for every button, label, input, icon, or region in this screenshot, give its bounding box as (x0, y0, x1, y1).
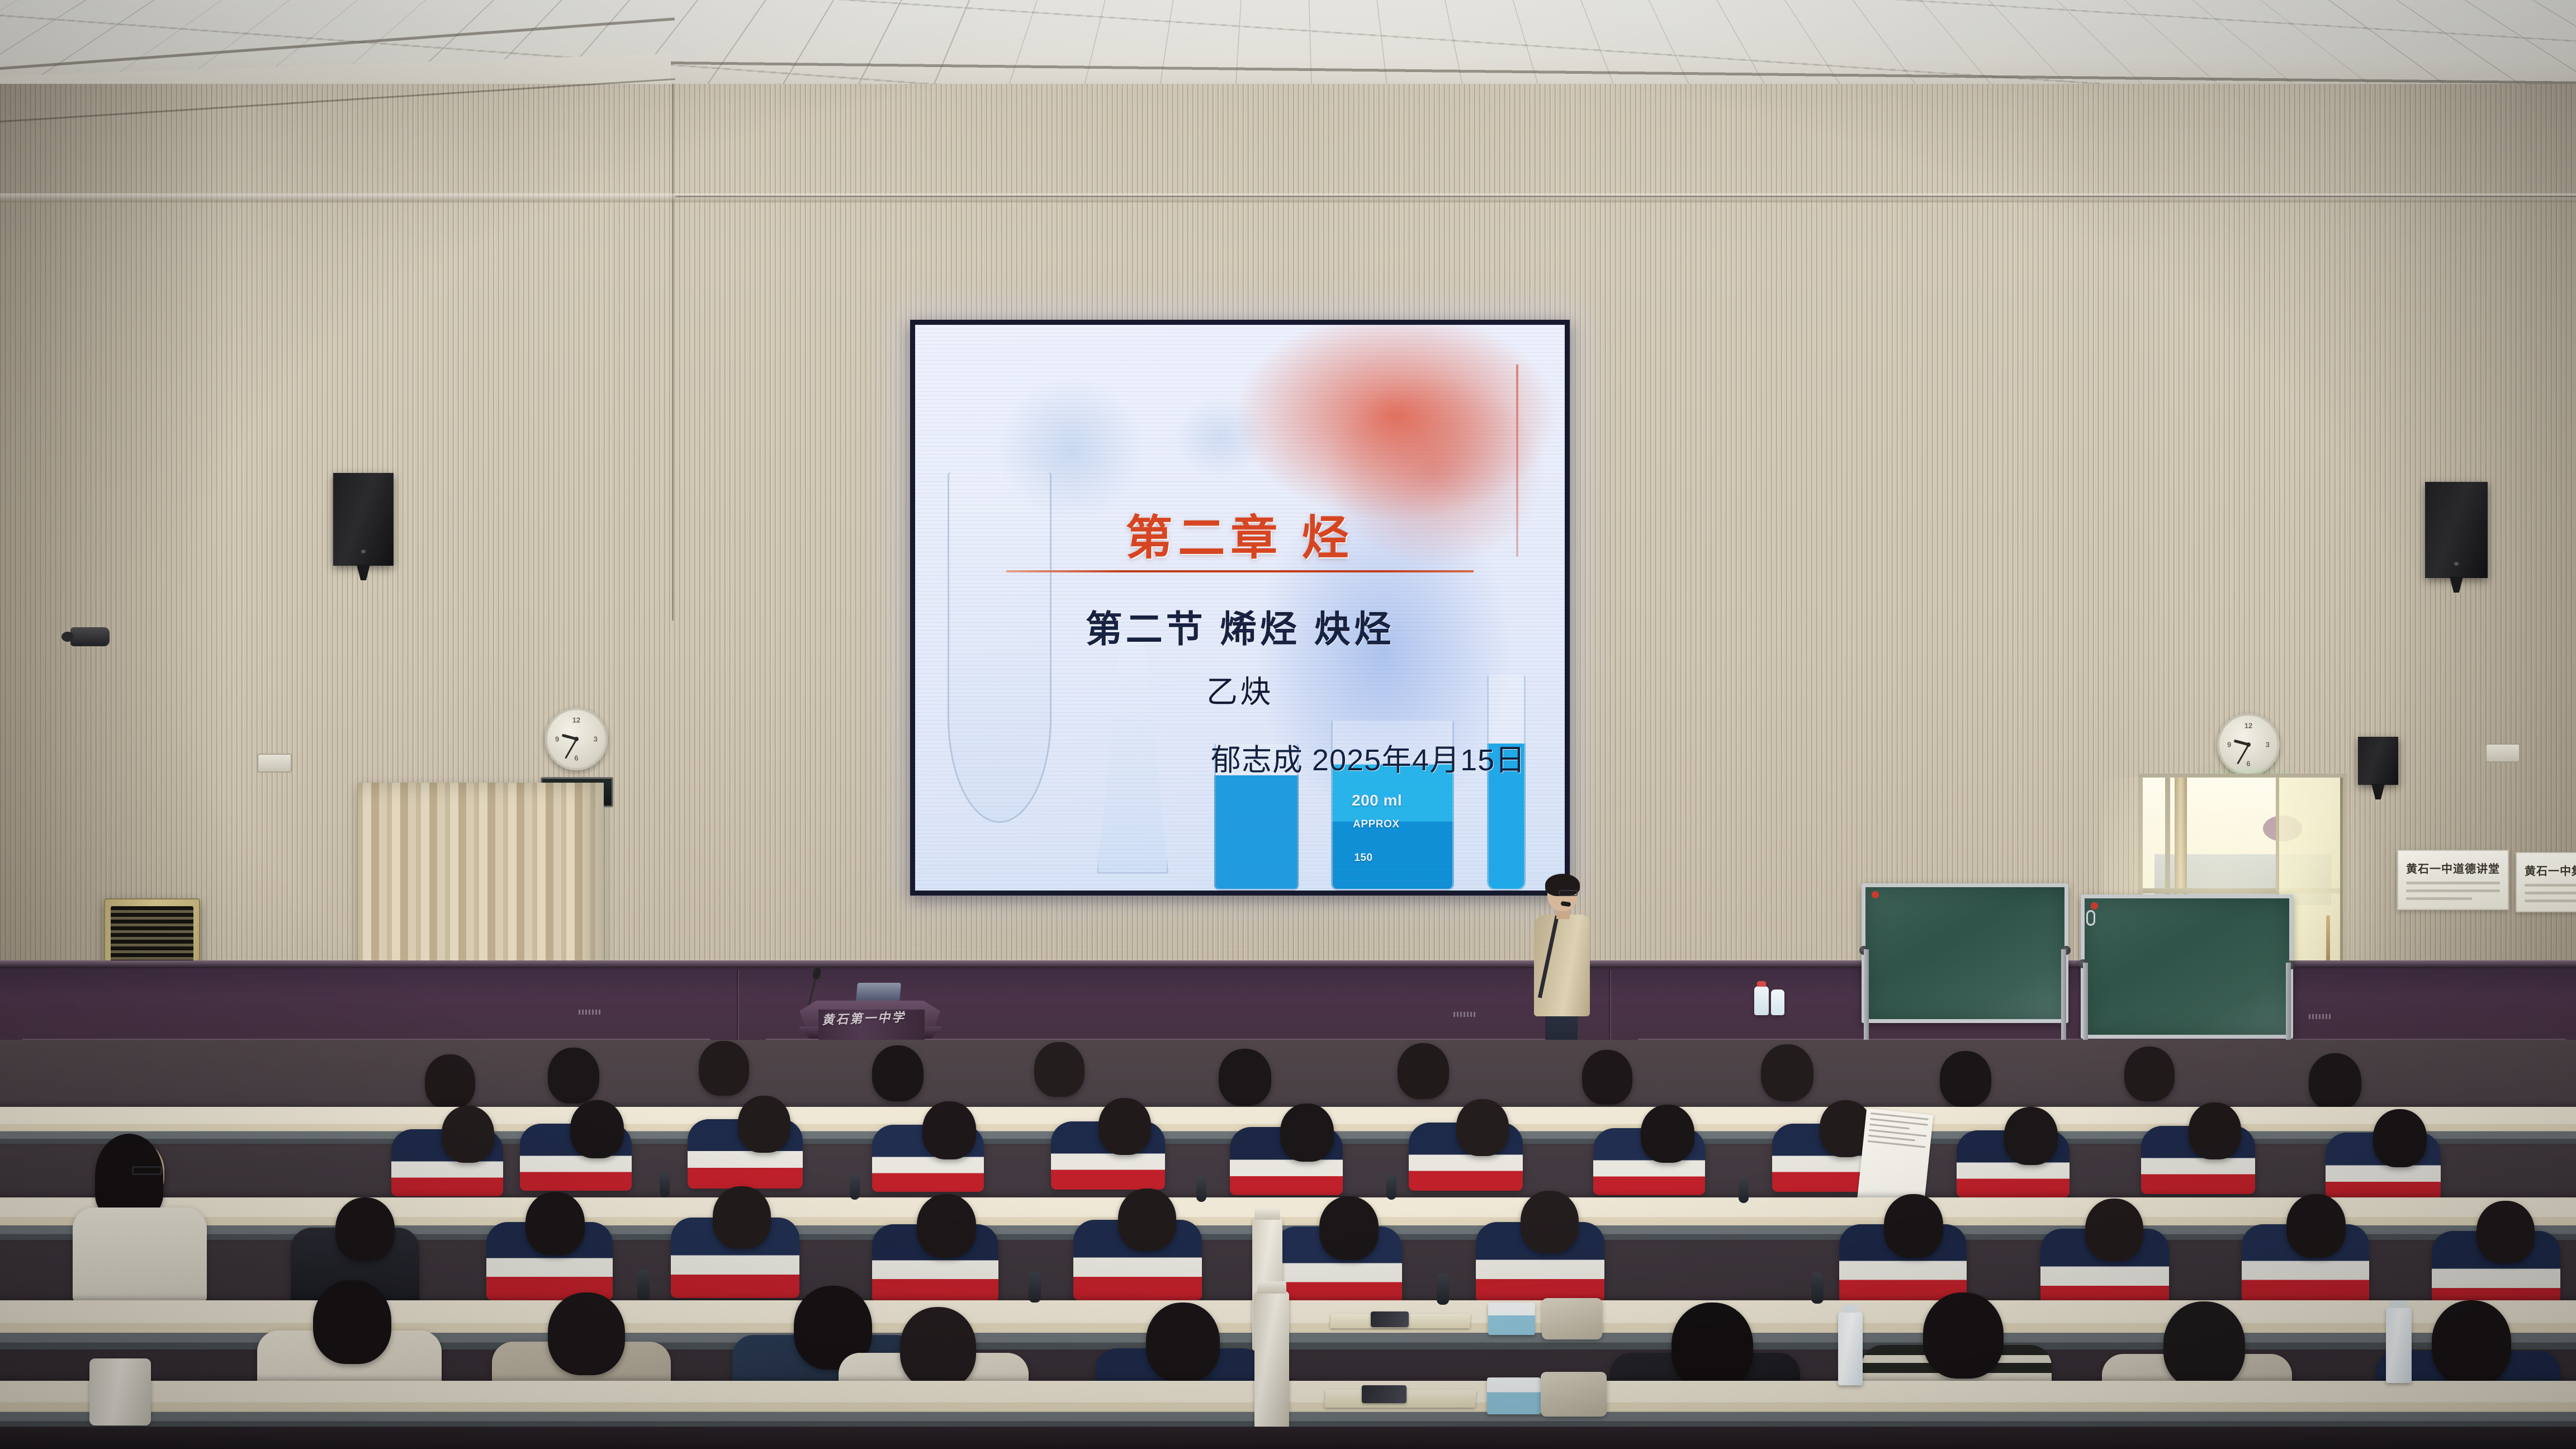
student-head (1761, 1044, 1813, 1101)
stage-water-bottle (1754, 986, 1769, 1015)
clock-num-3: 3 (594, 735, 598, 744)
student-head (442, 1106, 494, 1163)
tissue-box (1488, 1303, 1535, 1335)
wall-poster-1: 黄石一中道德讲堂管理制度 (2397, 850, 2509, 910)
student-head (1118, 1188, 1176, 1251)
mobile-chalkboard-left[interactable] (1862, 883, 2068, 1023)
stage-water-bottle-2 (1771, 989, 1784, 1015)
chalkboard-leg-right (2061, 949, 2066, 1045)
observer-head (1671, 1303, 1753, 1390)
seat-armrest (1437, 1273, 1449, 1305)
wall-clock-right: 12 3 6 9 (2217, 713, 2280, 776)
clock-center-pin (2246, 742, 2251, 747)
student-head (1098, 1098, 1151, 1155)
wall-sensor-box-right (2485, 744, 2520, 763)
student-head (2286, 1194, 2346, 1258)
wall-trim-band (0, 193, 2576, 202)
water-bottle (2386, 1307, 2412, 1383)
clock-num-6: 6 (574, 754, 578, 763)
slide-divider-rule (1006, 570, 1474, 572)
ceiling-camera (70, 627, 110, 646)
slide-section-title: 第二节 烯烃 炔烃 (915, 599, 1565, 653)
student-head (1398, 1043, 1449, 1099)
wall-sensor-box-left (257, 754, 292, 773)
wall-poster-2-body (2525, 884, 2576, 902)
floor-strip (0, 1427, 2576, 1449)
student-head (1219, 1049, 1271, 1106)
observer-head (548, 1292, 625, 1375)
wall-clock-left: 12 3 6 9 (545, 708, 608, 770)
wall-shadow-left (0, 84, 235, 1023)
clock-center-pin (574, 737, 579, 741)
seat-armrest (1811, 1272, 1824, 1304)
stage-vent-3 (2309, 1014, 2332, 1019)
slide-text-layer: 第二章 烃 第二节 烯烃 炔烃 乙炔 郁志成 2025年4月15日 (915, 325, 1565, 891)
observer-head (900, 1307, 976, 1389)
clock-face: 12 3 6 9 (552, 714, 601, 764)
observer-head (2163, 1301, 2245, 1389)
chalkboard-leg-left (1864, 949, 1869, 1045)
observer-head (1923, 1292, 2004, 1379)
student-head (922, 1101, 976, 1159)
tumbler-cup (89, 1358, 151, 1426)
wall-poster-2-title: 黄石一中集会守则 (2525, 862, 2576, 878)
clock-num-6: 6 (2246, 760, 2250, 768)
student-head (1319, 1196, 1379, 1260)
student-head (525, 1192, 585, 1256)
wall-seam-mid (675, 196, 2576, 197)
chalkboard-surface[interactable] (1862, 883, 2068, 1023)
smartphone (1362, 1385, 1407, 1403)
student-head (1884, 1194, 1943, 1258)
thermos-bottle (1254, 1291, 1289, 1428)
clock-face: 12 3 6 9 (2224, 720, 2273, 769)
wall-poster-1-title: 黄石一中道德讲堂管理制度 (2406, 860, 2500, 876)
wall-speaker-right-small (2358, 737, 2398, 785)
student-head (2124, 1046, 2175, 1101)
student-head (425, 1054, 475, 1109)
student-head (699, 1041, 749, 1096)
student-head (872, 1045, 924, 1101)
speaker-screw (361, 550, 366, 553)
presenter-teacher (1526, 877, 1599, 1061)
stage-vent-1 (579, 1010, 602, 1015)
observer-torso (73, 1207, 207, 1303)
student-head (2476, 1201, 2535, 1263)
seat-armrest (1196, 1176, 1206, 1202)
student-head (2189, 1102, 2241, 1159)
student-head (1034, 1042, 1085, 1097)
student-head (2085, 1199, 2143, 1261)
smartphone (1371, 1311, 1409, 1327)
seat-armrest (660, 1172, 670, 1197)
bottle-cap (1757, 981, 1766, 987)
student-head (713, 1186, 771, 1249)
student-handout (1857, 1108, 1933, 1210)
clock-num-9: 9 (2227, 741, 2231, 749)
student-head (738, 1096, 790, 1153)
seat-armrest (1386, 1174, 1396, 1200)
student-head (1940, 1051, 1991, 1107)
chalkboard-magnet (2091, 902, 2098, 910)
bottle-cap (2390, 1300, 2407, 1308)
seat-armrest (637, 1269, 650, 1300)
clock-num-3: 3 (2266, 741, 2270, 749)
chalkboard-clip (2086, 910, 2095, 926)
stage-vent-2 (1453, 1012, 1477, 1017)
student-head (2309, 1053, 2361, 1110)
student-head (2373, 1109, 2427, 1167)
clock-num-9: 9 (555, 735, 559, 744)
observer-head (313, 1280, 391, 1364)
chalkboard-magnet (1872, 891, 1879, 898)
wall-poster-1-body (2406, 882, 2500, 900)
podium-engraved-text: 黄石第一中学 (821, 1007, 922, 1028)
speaker-screw (2454, 562, 2459, 566)
student-head (1521, 1191, 1579, 1253)
seat-armrest (850, 1174, 860, 1200)
clock-num-12: 12 (2244, 721, 2252, 730)
wall-speaker-right (2425, 482, 2488, 578)
presenter-glasses (1559, 890, 1578, 896)
handbag (1541, 1372, 1607, 1417)
observer-head (335, 1197, 395, 1261)
seat-armrest (1029, 1271, 1041, 1303)
presenter-shirt (1534, 915, 1590, 1016)
student-head (1280, 1104, 1334, 1162)
lecture-hall-photo: 12 3 6 9 安全 出口 12 3 6 9 安全 出口 黄石一 (0, 0, 2576, 1449)
led-display-screen[interactable]: 200 ml APPROX 150 第二章 烃 第二节 烯烃 炔烃 乙炔 郁志成… (910, 320, 1570, 896)
student-head (2432, 1300, 2511, 1385)
thermos-cap (1254, 1209, 1280, 1220)
water-bottle (1838, 1311, 1863, 1385)
student-head (1641, 1105, 1694, 1163)
wall-poster-2: 黄石一中集会守则 (2516, 852, 2576, 912)
slide-canvas: 200 ml APPROX 150 第二章 烃 第二节 烯烃 炔烃 乙炔 郁志成… (915, 325, 1565, 891)
student-head (1456, 1099, 1509, 1156)
mobile-chalkboard-right[interactable] (2081, 894, 2293, 1039)
observer-hair (95, 1134, 163, 1218)
student-head (2004, 1107, 2058, 1165)
wall-seam-vertical (672, 84, 674, 621)
student-head (570, 1100, 624, 1158)
student-head (1582, 1050, 1632, 1105)
slide-byline: 郁志成 2025年4月15日 (1211, 735, 1526, 779)
thermos-cap (1257, 1281, 1286, 1294)
bottle-cap (1843, 1305, 1858, 1313)
slide-topic: 乙炔 (915, 667, 1565, 712)
wall-speaker-left (333, 473, 394, 566)
observer-glasses (132, 1166, 162, 1175)
clock-num-12: 12 (572, 716, 580, 724)
student-head (1146, 1303, 1220, 1382)
handbag (1542, 1298, 1602, 1339)
tissue-box (1487, 1377, 1541, 1414)
student-head (917, 1194, 976, 1258)
student-head (548, 1048, 599, 1104)
chalkboard-surface[interactable] (2081, 894, 2293, 1039)
seat-armrest (1739, 1177, 1749, 1203)
slide-chapter-title: 第二章 烃 (915, 500, 1565, 568)
audience-seating-area (0, 1040, 2576, 1449)
